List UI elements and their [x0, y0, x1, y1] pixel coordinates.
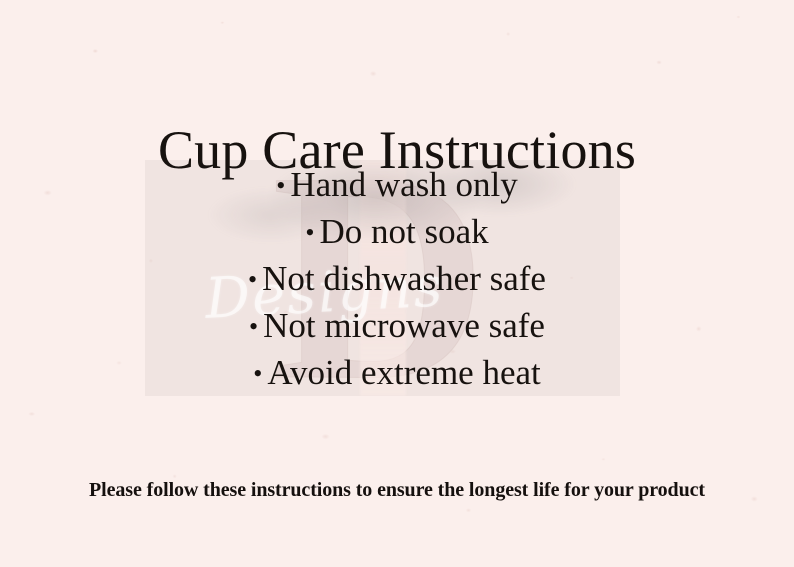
bullet-icon: •	[276, 171, 290, 200]
bullet-icon: •	[305, 218, 319, 247]
list-item-label: Avoid extreme heat	[267, 353, 540, 392]
footer-note: Please follow these instructions to ensu…	[77, 475, 717, 505]
bullet-icon: •	[248, 265, 262, 294]
list-item-label: Not microwave safe	[263, 306, 545, 345]
list-item: •Avoid extreme heat	[0, 350, 794, 397]
bullet-icon: •	[253, 359, 267, 388]
list-item-label: Hand wash only	[290, 165, 517, 204]
care-instruction-list: •Hand wash only •Do not soak •Not dishwa…	[0, 162, 794, 397]
list-item: •Do not soak	[0, 209, 794, 256]
list-item: •Not microwave safe	[0, 303, 794, 350]
card-content: Cup Care Instructions •Hand wash only •D…	[0, 0, 794, 567]
list-item: •Hand wash only	[0, 162, 794, 209]
list-item: •Not dishwasher safe	[0, 256, 794, 303]
care-instructions-card: D Designs Cup Care Instructions •Hand wa…	[0, 0, 794, 567]
bullet-icon: •	[249, 312, 263, 341]
list-item-label: Not dishwasher safe	[262, 259, 546, 298]
list-item-label: Do not soak	[319, 212, 488, 251]
